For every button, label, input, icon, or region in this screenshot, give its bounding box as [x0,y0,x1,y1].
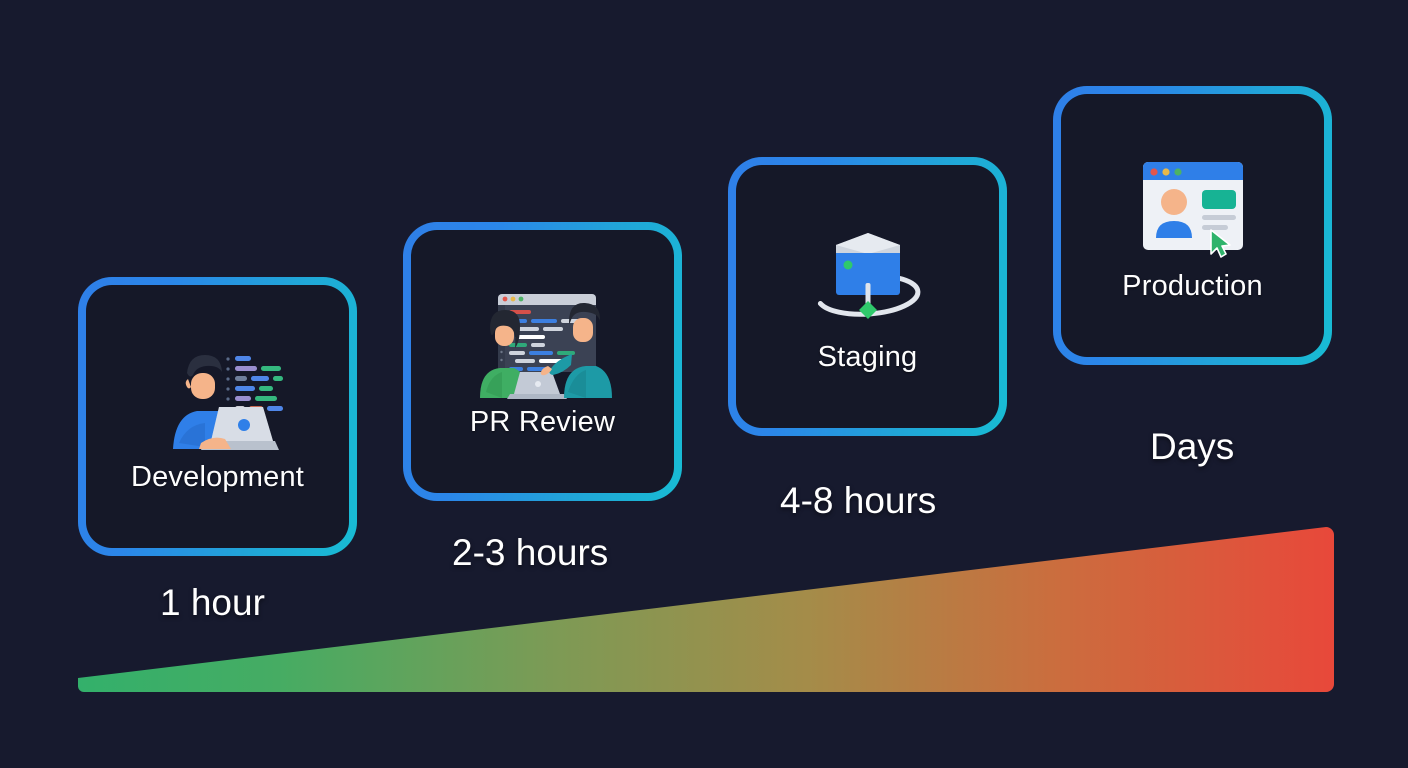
server-cube-orbit-icon [793,222,943,337]
stage-card-inner: Production [1061,94,1324,357]
stage-label: PR Review [470,408,615,437]
stage-label: Staging [818,343,918,372]
browser-window-user-icon [1118,151,1268,266]
infographic-canvas: Development 1 hour [0,0,1408,768]
code-review-pair-icon [468,287,618,402]
stage-caption-production: Days [1150,428,1234,465]
stage-label: Production [1122,272,1263,301]
stage-card-pr-review[interactable]: PR Review [403,222,682,501]
stage-label: Development [131,463,304,492]
stage-card-development[interactable]: Development [78,277,357,556]
stage-card-production[interactable]: Production [1053,86,1332,365]
stage-card-inner: Development [86,285,349,548]
stage-caption-staging: 4-8 hours [780,482,936,519]
developer-at-laptop-icon [143,342,293,457]
stage-caption-development: 1 hour [160,584,265,621]
stage-caption-pr-review: 2-3 hours [452,534,608,571]
stage-card-staging[interactable]: Staging [728,157,1007,436]
stage-card-inner: PR Review [411,230,674,493]
stage-card-inner: Staging [736,165,999,428]
